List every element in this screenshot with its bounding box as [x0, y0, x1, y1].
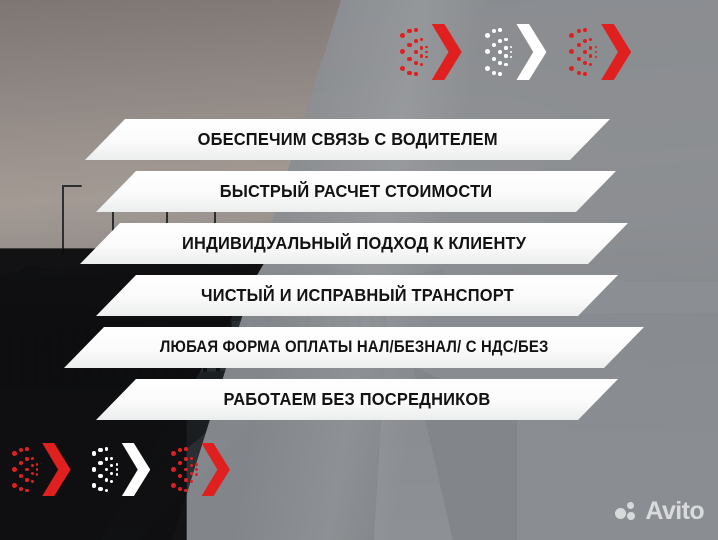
feature-text-6: РАБОТАЕМ БЕЗ ПОСРЕДНИКОВ [224, 389, 491, 410]
feature-row-4: ЧИСТЫЙ И ИСПРАВНЫЙ ТРАНСПОРТ [96, 275, 618, 316]
feature-text-5: ЛЮБАЯ ФОРМА ОПЛАТЫ НАЛ/БЕЗНАЛ/ С НДС/БЕЗ [160, 338, 549, 357]
feature-list: ОБЕСПЕЧИМ СВЯЗЬ С ВОДИТЕЛЕМ БЫСТРЫЙ РАСЧ… [0, 0, 718, 540]
feature-text-4: ЧИСТЫЙ И ИСПРАВНЫЙ ТРАНСПОРТ [201, 285, 514, 306]
feature-row-1: ОБЕСПЕЧИМ СВЯЗЬ С ВОДИТЕЛЕМ [85, 119, 610, 160]
feature-text-3: ИНДИВИДУАЛЬНЫЙ ПОДХОД К КЛИЕНТУ [182, 233, 526, 254]
avito-watermark: Avito [615, 499, 704, 524]
feature-row-6: РАБОТАЕМ БЕЗ ПОСРЕДНИКОВ [96, 379, 618, 420]
feature-text-2: БЫСТРЫЙ РАСЧЕТ СТОИМОСТИ [220, 181, 493, 202]
avito-logo-icon [615, 502, 639, 522]
advertisement-banner: ОБЕСПЕЧИМ СВЯЗЬ С ВОДИТЕЛЕМ БЫСТРЫЙ РАСЧ… [0, 0, 718, 540]
feature-row-5: ЛЮБАЯ ФОРМА ОПЛАТЫ НАЛ/БЕЗНАЛ/ С НДС/БЕЗ [64, 327, 644, 368]
feature-row-3: ИНДИВИДУАЛЬНЫЙ ПОДХОД К КЛИЕНТУ [80, 223, 628, 264]
feature-text-1: ОБЕСПЕЧИМ СВЯЗЬ С ВОДИТЕЛЕМ [197, 129, 497, 150]
avito-label: Avito [645, 499, 704, 524]
feature-row-2: БЫСТРЫЙ РАСЧЕТ СТОИМОСТИ [96, 171, 616, 212]
